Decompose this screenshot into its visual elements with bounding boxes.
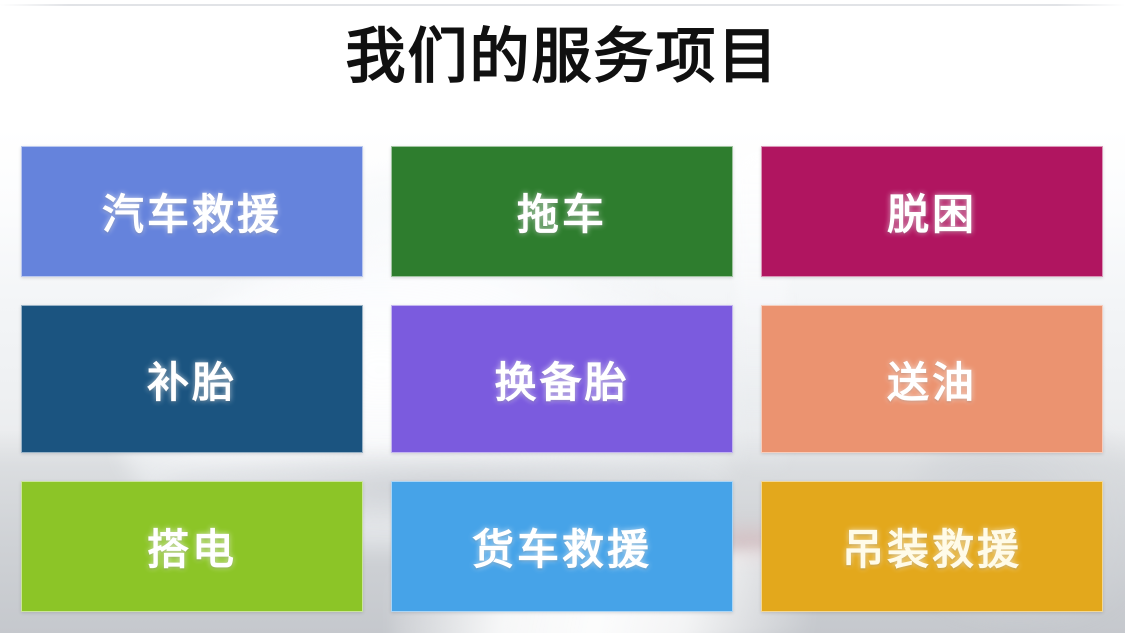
service-tile-label: 拖车 [517, 181, 607, 242]
service-tile-label: 换备胎 [494, 349, 629, 410]
service-tile-label: 货车救援 [472, 516, 652, 577]
service-tile-label: 吊装救援 [842, 516, 1022, 577]
service-tile-towing[interactable]: 拖车 [391, 146, 733, 277]
service-tile-jump-start[interactable]: 搭电 [21, 481, 363, 612]
service-tile-label: 脱困 [887, 181, 977, 242]
service-tile-extraction[interactable]: 脱困 [761, 146, 1103, 277]
service-poster: 我们的服务项目 汽车救援 拖车 脱困 补胎 换备胎 送油 搭电 货车救援 吊装救… [0, 0, 1125, 633]
service-tile-label: 汽车救援 [102, 181, 282, 242]
service-tile-label: 补胎 [147, 349, 237, 410]
top-divider-line [0, 4, 1125, 6]
service-tile-truck-rescue[interactable]: 货车救援 [391, 481, 733, 612]
service-tile-tire-repair[interactable]: 补胎 [21, 305, 363, 453]
service-tile-spare-tire[interactable]: 换备胎 [391, 305, 733, 453]
page-title: 我们的服务项目 [0, 24, 1125, 90]
service-tile-label: 送油 [887, 349, 977, 410]
service-tile-fuel-delivery[interactable]: 送油 [761, 305, 1103, 453]
service-tile-crane-rescue[interactable]: 吊装救援 [761, 481, 1103, 612]
service-grid: 汽车救援 拖车 脱困 补胎 换备胎 送油 搭电 货车救援 吊装救援 [21, 146, 1103, 612]
service-tile-car-rescue[interactable]: 汽车救援 [21, 146, 363, 277]
service-tile-label: 搭电 [147, 516, 237, 577]
